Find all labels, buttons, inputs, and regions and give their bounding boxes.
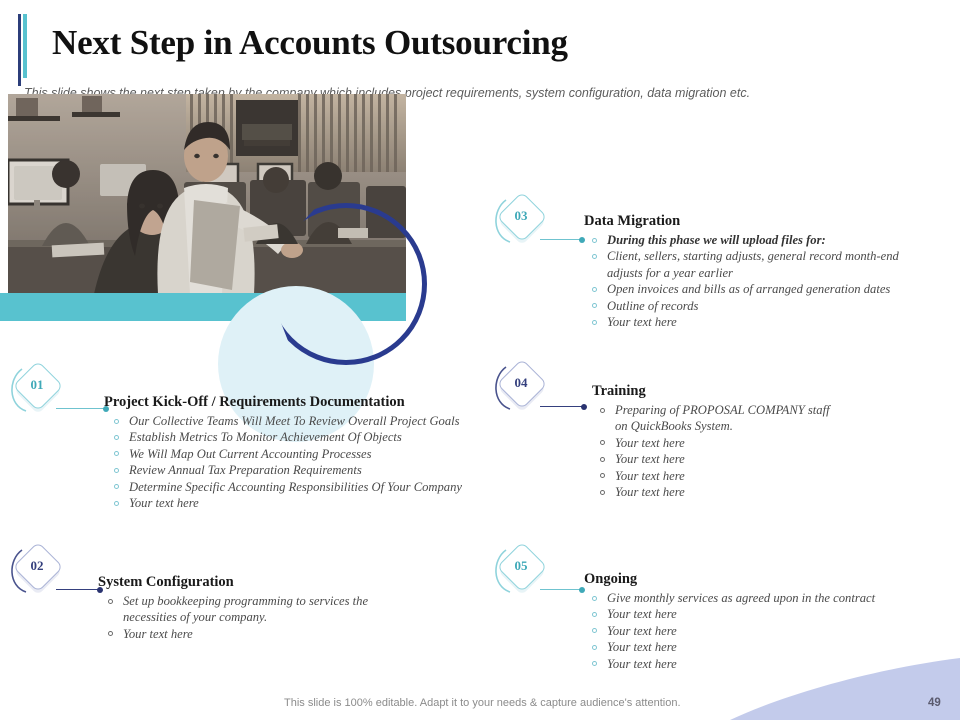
page-title: Next Step in Accounts Outsourcing xyxy=(52,23,568,63)
list-item: During this phase we will upload files f… xyxy=(590,232,940,248)
list-item: Your text here xyxy=(590,314,940,330)
list-item: Your text here xyxy=(590,639,940,655)
step-connector-line xyxy=(540,239,582,240)
footer-note: This slide is 100% editable. Adapt it to… xyxy=(284,697,681,709)
list-item: Client, sellers, starting adjusts, gener… xyxy=(590,248,940,281)
step-bullets-01: Our Collective Teams Will Meet To Review… xyxy=(112,413,502,511)
connector-dot xyxy=(581,404,587,410)
list-item: Review Annual Tax Preparation Requiremen… xyxy=(112,462,502,478)
step-title-05: Ongoing xyxy=(584,571,637,588)
step-title-04: Training xyxy=(592,383,646,400)
list-item: We Will Map Out Current Accounting Proce… xyxy=(112,446,502,462)
list-item: Your text here xyxy=(590,656,940,672)
badge-number: 02 xyxy=(20,549,54,583)
step-connector-line xyxy=(56,589,100,590)
list-item: Your text here xyxy=(598,484,928,500)
list-item: Determine Specific Accounting Responsibi… xyxy=(112,479,502,495)
step-badge-05[interactable]: 05 xyxy=(492,543,568,603)
step-connector-line xyxy=(540,406,584,407)
step-connector-line xyxy=(56,408,106,409)
list-item: Your text here xyxy=(590,623,940,639)
step-title-01: Project Kick-Off / Requirements Document… xyxy=(104,394,405,411)
step-connector-line xyxy=(540,589,582,590)
step-badge-03[interactable]: 03 xyxy=(492,193,568,253)
list-item: Your text here xyxy=(598,468,928,484)
list-item: Open invoices and bills as of arranged g… xyxy=(590,281,940,297)
list-item: Set up bookkeeping programming to servic… xyxy=(106,593,436,626)
list-item: Establish Metrics To Monitor Achievement… xyxy=(112,429,502,445)
page-number: 49 xyxy=(928,697,941,709)
connector-dot xyxy=(579,237,585,243)
step-badge-02[interactable]: 02 xyxy=(8,543,84,603)
step-badge-01[interactable]: 01 xyxy=(8,362,84,422)
list-item: Our Collective Teams Will Meet To Review… xyxy=(112,413,502,429)
step-badge-04[interactable]: 04 xyxy=(492,360,568,420)
list-item: Preparing of PROPOSAL COMPANY staff on Q… xyxy=(598,402,928,435)
list-item: Give monthly services as agreed upon in … xyxy=(590,590,940,606)
slide-root: Next Step in Accounts Outsourcing This s… xyxy=(0,0,960,720)
step-bullets-04: Preparing of PROPOSAL COMPANY staff on Q… xyxy=(598,402,928,500)
step-bullets-02: Set up bookkeeping programming to servic… xyxy=(106,593,436,642)
list-item: Your text here xyxy=(590,606,940,622)
badge-number: 01 xyxy=(20,368,54,402)
step-bullets-03: During this phase we will upload files f… xyxy=(590,232,940,330)
title-accent-teal-bar xyxy=(23,14,27,78)
list-item: Outline of records xyxy=(590,298,940,314)
list-item: Your text here xyxy=(106,626,436,642)
step-title-03: Data Migration xyxy=(584,213,680,230)
list-item: Your text here xyxy=(112,495,502,511)
title-accent-navy-bar xyxy=(18,14,21,86)
list-item: Your text here xyxy=(598,435,928,451)
badge-number: 03 xyxy=(504,199,538,233)
step-bullets-05: Give monthly services as agreed upon in … xyxy=(590,590,940,672)
list-item: Your text here xyxy=(598,451,928,467)
badge-number: 04 xyxy=(504,366,538,400)
badge-number: 05 xyxy=(504,549,538,583)
step-title-02: System Configuration xyxy=(98,574,234,591)
